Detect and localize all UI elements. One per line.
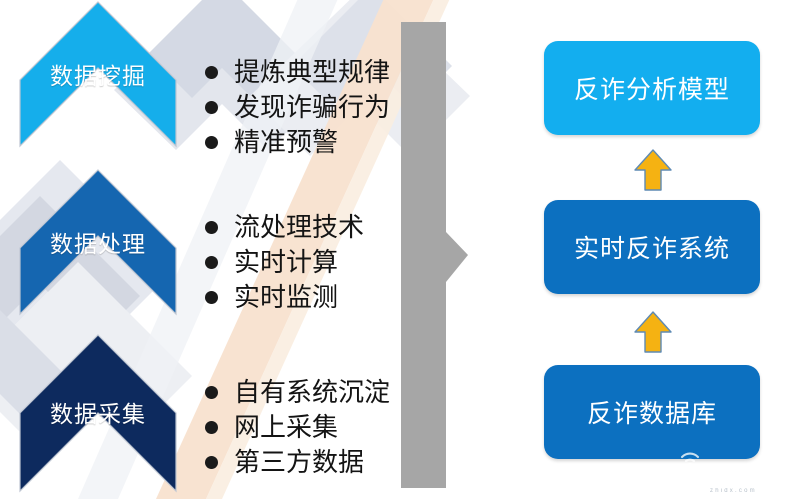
list-item: 第三方数据 xyxy=(205,445,390,480)
list-item: 实时计算 xyxy=(205,245,364,280)
bullet-label: 流处理技术 xyxy=(234,215,364,241)
list-item: 发现诈骗行为 xyxy=(205,90,390,125)
bullet-label: 自有系统沉淀 xyxy=(234,380,390,406)
bullet-dot-icon xyxy=(205,421,218,434)
arrow-system-to-model-icon xyxy=(633,148,673,192)
pipeline-box-label: 反诈分析模型 xyxy=(574,70,730,106)
list-item: 实时监测 xyxy=(205,280,364,315)
bullet-group-data-collection: 自有系统沉淀 网上采集 第三方数据 xyxy=(205,375,390,480)
bullet-dot-icon xyxy=(205,456,218,469)
pipeline-box-realtime-anti-fraud-system[interactable]: 实时反诈系统 xyxy=(544,200,760,294)
bullet-dot-icon xyxy=(205,291,218,304)
stage-chevron-data-mining[interactable]: 数据挖掘 xyxy=(18,0,178,180)
arrow-database-to-system-icon xyxy=(633,310,673,354)
stage-label-data-mining: 数据挖掘 xyxy=(18,57,178,91)
bullet-label: 实时计算 xyxy=(234,250,338,276)
bullet-dot-icon xyxy=(205,101,218,114)
bullet-dot-icon xyxy=(205,386,218,399)
list-item: 流处理技术 xyxy=(205,210,364,245)
bullet-label: 精准预警 xyxy=(234,130,338,156)
bullet-label: 网上采集 xyxy=(234,415,338,441)
slide-canvas: 数据挖掘 数据处理 数据采集 提炼典型规律 发现诈骗行为 精准预警 xyxy=(0,0,800,499)
bullet-dot-icon xyxy=(205,66,218,79)
stage-chevron-data-processing[interactable]: 数据处理 xyxy=(18,168,178,348)
pipeline-box-label: 反诈数据库 xyxy=(587,394,717,430)
bullet-label: 第三方数据 xyxy=(234,450,364,476)
bullet-group-data-processing: 流处理技术 实时计算 实时监测 xyxy=(205,210,364,315)
bullet-label: 发现诈骗行为 xyxy=(234,95,390,121)
list-item: 自有系统沉淀 xyxy=(205,375,390,410)
flow-arrow-shape xyxy=(401,22,468,488)
bullet-dot-icon xyxy=(205,221,218,234)
stage-label-data-processing: 数据处理 xyxy=(18,225,178,259)
pipeline-box-anti-fraud-analysis-model[interactable]: 反诈分析模型 xyxy=(544,41,760,135)
bullet-group-data-mining: 提炼典型规律 发现诈骗行为 精准预警 xyxy=(205,55,390,160)
list-item: 提炼典型规律 xyxy=(205,55,390,90)
svg-text:zhidx.com: zhidx.com xyxy=(710,488,757,494)
list-item: 网上采集 xyxy=(205,410,390,445)
stage-label-data-collection: 数据采集 xyxy=(18,395,178,429)
bullet-label: 提炼典型规律 xyxy=(234,60,390,86)
bullet-dot-icon xyxy=(205,256,218,269)
stage-chevron-data-collection[interactable]: 数据采集 xyxy=(18,333,178,499)
bullet-dot-icon xyxy=(205,136,218,149)
pipeline-box-label: 实时反诈系统 xyxy=(574,229,730,265)
bullet-label: 实时监测 xyxy=(234,285,338,311)
list-item: 精准预警 xyxy=(205,125,390,160)
zhidx-watermark-logo: zhidx.com xyxy=(676,443,794,495)
